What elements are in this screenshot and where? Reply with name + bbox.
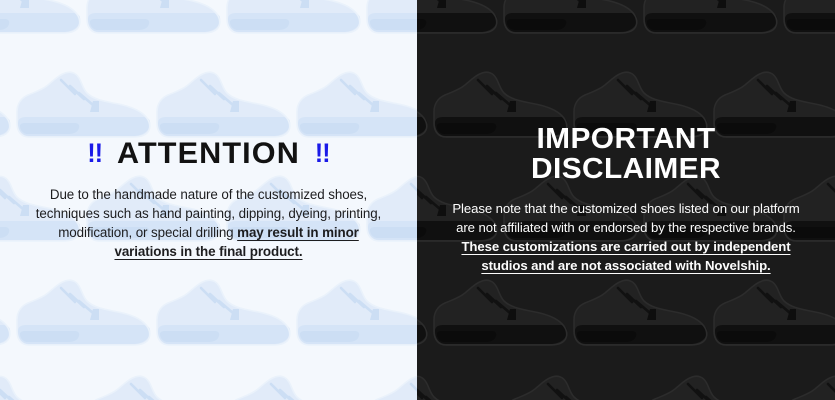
disclaimer-heading-line1: IMPORTANT [442,125,811,155]
exclamation-left-icon: !! [87,140,102,168]
disclaimer-body-plain: Please note that the customized shoes li… [452,201,799,235]
exclamation-right-icon: !! [315,140,330,168]
attention-heading-text: ATTENTION [117,139,300,170]
disclaimer-body-stressed: These customizations are carried out by … [461,239,790,273]
customization-notice-banner: !! ATTENTION !! Due to the handmade natu… [0,0,835,400]
attention-content: !! ATTENTION !! Due to the handmade natu… [0,139,417,262]
disclaimer-heading: IMPORTANT DISCLAIMER [442,125,811,185]
disclaimer-heading-line2: DISCLAIMER [442,155,811,185]
disclaimer-body: Please note that the customized shoes li… [447,199,805,275]
disclaimer-content: IMPORTANT DISCLAIMER Please note that th… [417,125,835,275]
disclaimer-panel: IMPORTANT DISCLAIMER Please note that th… [417,0,835,400]
attention-heading: !! ATTENTION !! [22,139,394,170]
attention-panel: !! ATTENTION !! Due to the handmade natu… [0,0,417,400]
attention-body: Due to the handmade nature of the custom… [26,185,391,261]
